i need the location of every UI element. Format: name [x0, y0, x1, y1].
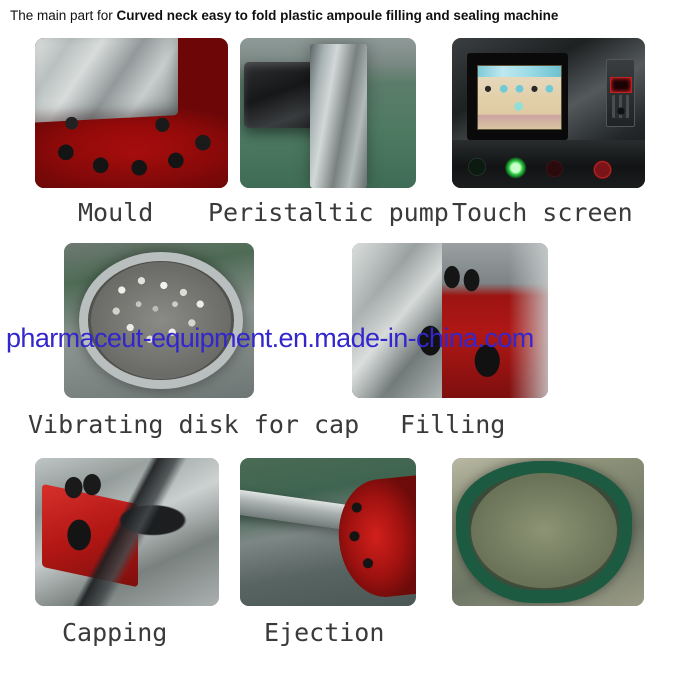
caption-vibrating-disk: Vibrating disk for cap	[28, 412, 359, 437]
hmi-display	[467, 53, 567, 140]
mould-photo	[35, 38, 228, 188]
page-title-lead: The main part for	[10, 8, 117, 23]
caption-mould: Mould	[78, 200, 153, 225]
touch-screen-photo	[452, 38, 645, 188]
caption-peristaltic-pump: Peristaltic pump	[208, 200, 449, 225]
ejection-bin-photo	[452, 458, 644, 606]
photo-tile-vibrating-disk	[64, 243, 254, 398]
photo-tile-ejection-bin	[452, 458, 644, 606]
photo-tile-capping	[35, 458, 219, 606]
page-title-product: Curved neck easy to fold plastic ampoule…	[117, 8, 559, 23]
digital-counter	[606, 59, 635, 127]
ejection-photo	[240, 458, 416, 606]
hmi-screen-content	[477, 65, 561, 129]
photo-tile-filling	[352, 243, 548, 398]
filling-photo	[352, 243, 548, 398]
photo-tile-mould	[35, 38, 228, 188]
photo-tile-ejection	[240, 458, 416, 606]
product-detail-image: The main part for Curved neck easy to fo…	[0, 0, 681, 683]
photo-tile-touch-screen	[452, 38, 645, 188]
vibrating-disk-photo	[64, 243, 254, 398]
caption-filling: Filling	[400, 412, 505, 437]
photo-tile-peristaltic-pump	[240, 38, 416, 188]
page-title: The main part for Curved neck easy to fo…	[10, 6, 675, 28]
capping-photo	[35, 458, 219, 606]
peristaltic-pump-photo	[240, 38, 416, 188]
control-button-bar	[452, 140, 645, 188]
caption-ejection: Ejection	[264, 620, 384, 645]
caption-capping: Capping	[62, 620, 167, 645]
site-watermark: pharmaceut-equipment.en.made-in-china.co…	[6, 325, 676, 352]
caption-touch-screen: Touch screen	[452, 200, 633, 225]
